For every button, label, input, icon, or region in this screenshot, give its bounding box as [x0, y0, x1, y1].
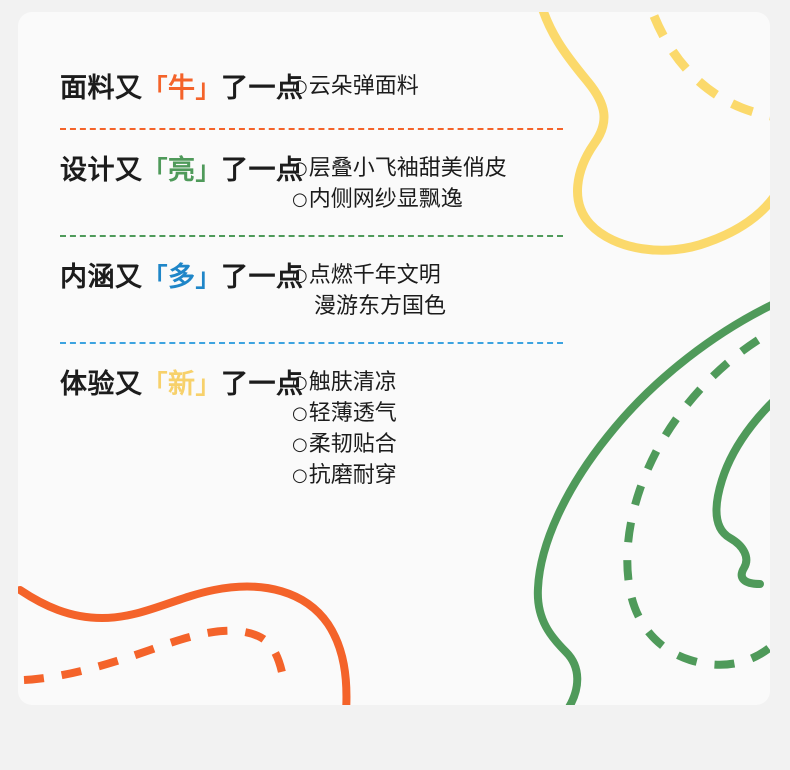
circle-bullet-icon: ○ [292, 434, 308, 455]
row-spacer [60, 215, 600, 235]
feature-point: ○轻薄透气 [292, 398, 600, 429]
heading-prefix: 内涵又 [60, 262, 143, 293]
feature-points: ○触肤清凉 ○轻薄透气 ○柔韧贴合 ○抗磨耐穿 [292, 366, 600, 491]
heading-close-bracket: 」 [196, 263, 222, 292]
heading-prefix: 面料又 [60, 73, 143, 104]
heading-keyword: 多 [168, 262, 196, 293]
circle-bullet-icon: ○ [292, 189, 308, 210]
feature-points: ○层叠小飞袖甜美俏皮 ○内侧网纱显飘逸 [292, 152, 600, 215]
feature-point-label: 漫游东方国色 [314, 294, 446, 319]
heading-close-bracket: 」 [196, 156, 222, 185]
feature-row: 面料又「牛」了一点 ○云朵弹面料 [60, 70, 600, 108]
feature-point: ○云朵弹面料 [292, 71, 600, 102]
heading-open-bracket: 「 [143, 156, 169, 185]
feature-point-label: 柔韧贴合 [309, 432, 397, 457]
heading-close-bracket: 」 [196, 370, 222, 399]
feature-point-label: 云朵弹面料 [309, 74, 419, 99]
feature-points: ○云朵弹面料 [292, 70, 600, 102]
feature-heading: 设计又「亮」了一点 [60, 152, 292, 190]
feature-point: ○层叠小飞袖甜美俏皮 [292, 153, 600, 184]
row-spacer [60, 344, 600, 366]
feature-point: ○抗磨耐穿 [292, 460, 600, 491]
feature-point-label: 抗磨耐穿 [309, 463, 397, 488]
heading-prefix: 设计又 [60, 155, 143, 186]
feature-row: 体验又「新」了一点 ○触肤清凉 ○轻薄透气 ○柔韧贴合 ○抗磨耐穿 [60, 366, 600, 491]
green-leaf-dashed-path [627, 340, 770, 665]
yellow-blob-dashed-path [654, 16, 770, 118]
feature-point-label: 点燃千年文明 [309, 263, 441, 288]
circle-bullet-icon: ○ [292, 76, 308, 97]
feature-list: 面料又「牛」了一点 ○云朵弹面料 设计又「亮」了一点 ○层叠小飞袖甜美俏皮 ○内… [60, 70, 600, 491]
heading-keyword: 新 [168, 369, 196, 400]
feature-row: 内涵又「多」了一点 ○点燃千年文明 漫游东方国色 [60, 259, 600, 322]
feature-point: 漫游东方国色 [292, 291, 600, 322]
green-leaf-inner-solid-path [716, 382, 770, 584]
circle-bullet-icon: ○ [292, 403, 308, 424]
heading-open-bracket: 「 [143, 74, 169, 103]
feature-heading: 面料又「牛」了一点 [60, 70, 292, 108]
row-spacer [60, 322, 600, 342]
circle-bullet-icon: ○ [292, 372, 308, 393]
feature-point: ○触肤清凉 [292, 367, 600, 398]
heading-keyword: 亮 [168, 155, 196, 186]
orange-wave-solid-path [20, 587, 346, 705]
feature-points: ○点燃千年文明 漫游东方国色 [292, 259, 600, 322]
feature-point: ○内侧网纱显飘逸 [292, 184, 600, 215]
feature-point-label: 轻薄透气 [309, 401, 397, 426]
feature-heading: 体验又「新」了一点 [60, 366, 292, 404]
circle-bullet-icon: ○ [292, 158, 308, 179]
feature-row: 设计又「亮」了一点 ○层叠小飞袖甜美俏皮 ○内侧网纱显飘逸 [60, 152, 600, 215]
feature-point-label: 内侧网纱显飘逸 [309, 187, 463, 212]
heading-open-bracket: 「 [143, 370, 169, 399]
row-spacer [60, 130, 600, 152]
heading-keyword: 牛 [168, 73, 196, 104]
feature-point-label: 层叠小飞袖甜美俏皮 [309, 156, 507, 181]
feature-point-label: 触肤清凉 [309, 370, 397, 395]
feature-point: ○点燃千年文明 [292, 260, 600, 291]
feature-point: ○柔韧贴合 [292, 429, 600, 460]
feature-heading: 内涵又「多」了一点 [60, 259, 292, 297]
page-canvas: 面料又「牛」了一点 ○云朵弹面料 设计又「亮」了一点 ○层叠小飞袖甜美俏皮 ○内… [0, 0, 790, 770]
heading-open-bracket: 「 [143, 263, 169, 292]
feature-card: 面料又「牛」了一点 ○云朵弹面料 设计又「亮」了一点 ○层叠小飞袖甜美俏皮 ○内… [18, 12, 770, 705]
row-spacer [60, 237, 600, 259]
orange-wave-dashed-path [24, 631, 284, 682]
heading-close-bracket: 」 [196, 74, 222, 103]
circle-bullet-icon: ○ [292, 265, 308, 286]
heading-prefix: 体验又 [60, 369, 143, 400]
circle-bullet-icon: ○ [292, 465, 308, 486]
row-spacer [60, 108, 600, 128]
